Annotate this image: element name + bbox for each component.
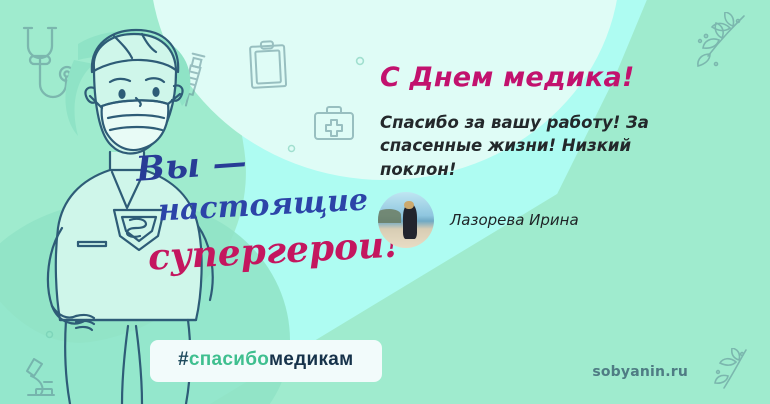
floral-branch-icon-bottom bbox=[702, 348, 754, 394]
page-title: С Днем медика! bbox=[380, 62, 740, 93]
message-block: С Днем медика! Спасибо за вашу работу! З… bbox=[380, 62, 740, 181]
message-body: Спасибо за вашу работу! За спасенные жиз… bbox=[380, 111, 710, 181]
hashtag-symbol: # bbox=[178, 349, 189, 370]
avatar bbox=[378, 192, 434, 248]
hashtag-part-light: спасибо bbox=[189, 349, 269, 370]
author-row: Лазорева Ирина bbox=[378, 192, 579, 248]
avatar-figure bbox=[403, 204, 418, 239]
hashtag-part-dark: медикам bbox=[269, 349, 354, 370]
author-name: Лазорева Ирина bbox=[450, 211, 579, 229]
first-aid-kit-icon bbox=[313, 104, 355, 142]
greeting-card: Вы — настоящие супергерои! #спасибомедик… bbox=[0, 0, 770, 404]
handwritten-line-1: Вы — bbox=[135, 142, 249, 190]
speck-circle-icon-3 bbox=[287, 144, 296, 153]
speck-circle-icon-2 bbox=[355, 56, 365, 66]
clipboard-icon bbox=[247, 39, 290, 91]
avatar-hill bbox=[378, 209, 401, 224]
hashtag-banner: #спасибомедикам bbox=[150, 340, 382, 382]
site-watermark: sobyanin.ru bbox=[592, 364, 688, 380]
